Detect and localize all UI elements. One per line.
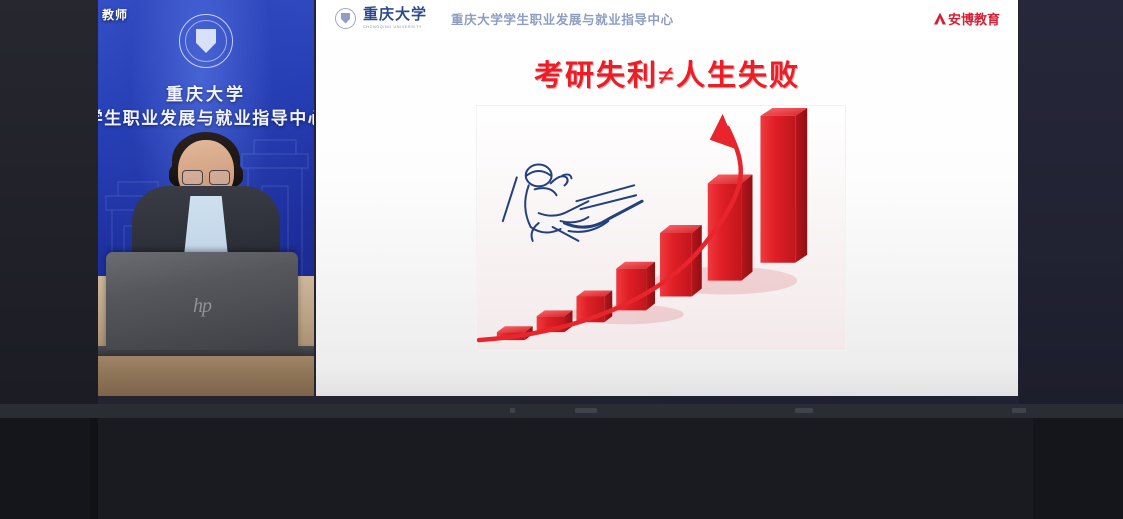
cqu-logo: 重庆大学 CHONGQING UNIVERSITY	[335, 8, 427, 29]
cqu-logo-en: CHONGQING UNIVERSITY	[363, 25, 427, 29]
bottom-content-panel	[98, 418, 1033, 519]
stage-left-background	[0, 0, 98, 404]
cqu-seal-icon	[335, 8, 356, 29]
anbo-brand-text: 安博教育	[948, 9, 1000, 28]
anbo-mark-icon	[934, 13, 946, 25]
growth-chart-image	[476, 105, 846, 351]
bar-7	[760, 108, 807, 263]
toolbar-icon-2[interactable]	[575, 408, 597, 413]
toolbar-icon-3[interactable]	[795, 408, 813, 413]
app-root: 重庆大学 学生职业发展与就业指导中心 hp 教师	[0, 0, 1123, 519]
bar-5	[660, 225, 702, 296]
bottom-chrome	[0, 404, 1123, 519]
toolbar-icon-4[interactable]	[1012, 408, 1026, 413]
slide-title: 考研失利≠人生失败	[316, 52, 1018, 94]
video-role-label: 教师	[102, 6, 128, 23]
presentation-stage: 重庆大学 学生职业发展与就业指导中心 hp 教师	[0, 0, 1123, 404]
growth-chart-svg	[477, 106, 845, 350]
cqu-logo-cn: 重庆大学	[363, 8, 427, 23]
bar-4	[616, 262, 655, 311]
stage-right-background	[1019, 0, 1123, 404]
slide-header-title: 重庆大学学生职业发展与就业指导中心	[451, 9, 674, 28]
toolbar-icon-1[interactable]	[510, 408, 515, 413]
slide-header: 重庆大学 CHONGQING UNIVERSITY 重庆大学学生职业发展与就业指…	[316, 0, 1018, 36]
presenter-figure: hp	[98, 0, 314, 396]
laptop: hp	[106, 252, 298, 350]
toolbar-strip[interactable]	[0, 404, 1123, 418]
shared-slide[interactable]: 重庆大学 CHONGQING UNIVERSITY 重庆大学学生职业发展与就业指…	[316, 0, 1018, 396]
teacher-video-tile[interactable]: 重庆大学 学生职业发展与就业指导中心 hp 教师	[98, 0, 314, 396]
hp-logo-icon: hp	[193, 295, 211, 318]
anbo-brand-logo: 安博教育	[934, 9, 1000, 28]
presenter-glasses	[182, 170, 230, 183]
